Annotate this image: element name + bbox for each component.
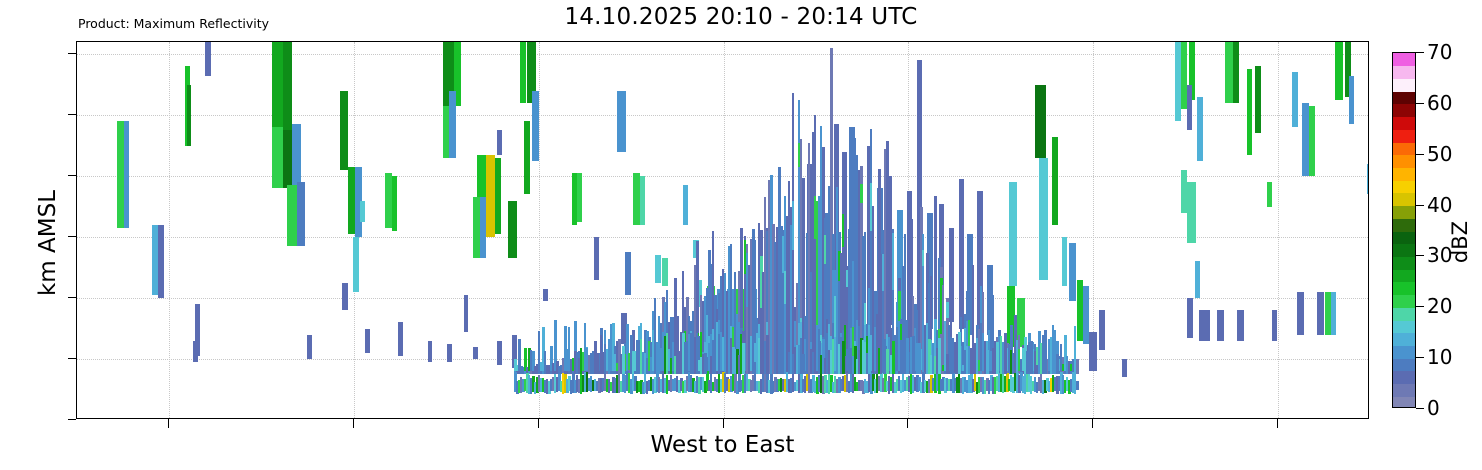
product-label: Product: Maximum Reflectivity — [78, 16, 269, 31]
echo-cell — [976, 338, 978, 374]
echo-cell — [524, 121, 530, 194]
echo-cell — [918, 343, 921, 375]
colorbar-band — [1393, 244, 1415, 257]
echo-cell — [868, 347, 871, 374]
echo-cell — [617, 91, 626, 152]
y-tick-mark — [68, 419, 76, 420]
reflectivity-echoes — [77, 42, 1368, 418]
echo-cell — [788, 352, 790, 374]
echo-cell — [348, 167, 355, 234]
echo-cell — [802, 354, 805, 374]
colorbar-band — [1393, 384, 1415, 397]
echo-cell — [124, 121, 129, 228]
x-tick-mark — [353, 419, 354, 428]
echo-cell — [1052, 137, 1058, 225]
echo-cell — [520, 42, 526, 103]
echo-cell — [860, 184, 863, 203]
colorbar-tick-label: 10 — [1427, 345, 1452, 369]
echo-cell — [543, 289, 548, 301]
colorbar-tick-label: 30 — [1427, 243, 1452, 267]
echo-cell — [650, 357, 652, 374]
echo-cell — [718, 334, 720, 375]
echo-cell — [906, 338, 909, 374]
echo-cell — [1076, 381, 1079, 390]
echo-cell — [676, 339, 678, 374]
echo-cell — [986, 350, 989, 374]
echo-cell — [1297, 292, 1304, 335]
echo-cell — [766, 335, 769, 374]
echo-cell — [1009, 182, 1017, 286]
colorbar-band — [1393, 320, 1415, 333]
echo-cell — [946, 302, 949, 318]
echo-cell — [886, 349, 889, 374]
colorbar-tick-mark — [1416, 255, 1424, 256]
echo-cell — [1016, 340, 1018, 375]
echo-cell — [1335, 42, 1343, 100]
colorbar-band — [1393, 231, 1415, 244]
echo-cell — [922, 250, 924, 266]
echo-cell — [1039, 158, 1048, 280]
colorbar-tick-label: 20 — [1427, 294, 1452, 318]
colorbar-band — [1393, 307, 1415, 320]
echo-cell — [704, 353, 707, 374]
echo-cell — [596, 353, 599, 374]
echo-cell — [968, 356, 970, 375]
echo-cell — [297, 182, 305, 246]
colorbar-tick-mark — [1416, 205, 1424, 206]
echo-cell — [996, 342, 999, 374]
echo-cell — [508, 201, 517, 259]
echo-cell — [307, 335, 312, 359]
x-tick-mark — [723, 419, 724, 428]
echo-cell — [117, 179, 124, 228]
colorbar-tick-label: 60 — [1427, 91, 1452, 115]
colorbar-tick-mark — [1416, 52, 1424, 53]
colorbar-band — [1393, 66, 1415, 79]
echo-cell — [287, 185, 297, 246]
echo-cell — [1187, 182, 1196, 243]
echo-cell — [686, 341, 688, 375]
echo-cell — [205, 42, 211, 76]
echo-cell — [392, 176, 397, 231]
colorbar-band — [1393, 193, 1415, 206]
echo-cell — [428, 341, 432, 362]
colorbar-band — [1393, 78, 1415, 91]
y-tick-mark — [68, 114, 76, 115]
colorbar-band — [1393, 282, 1415, 295]
echo-cell — [283, 42, 292, 130]
colorbar-band — [1393, 396, 1415, 408]
colorbar-band — [1393, 206, 1415, 219]
echo-cell — [283, 130, 292, 188]
echo-cell — [1317, 292, 1324, 335]
echo-cell — [832, 339, 834, 375]
echo-cell — [447, 344, 452, 362]
echo-cell — [946, 354, 949, 375]
echo-cell — [1349, 76, 1354, 125]
echo-cell — [625, 252, 631, 295]
echo-cell — [670, 358, 672, 374]
echo-cell — [1004, 333, 1007, 374]
echo-cell — [1302, 103, 1309, 176]
y-tick-mark — [68, 358, 76, 359]
echo-cell — [696, 333, 698, 375]
colorbar-band — [1393, 345, 1415, 358]
colorbar-band — [1393, 53, 1415, 66]
echo-cell — [1062, 237, 1067, 286]
echo-cell — [1292, 72, 1298, 127]
echo-cell — [117, 121, 124, 179]
echo-cell — [365, 329, 370, 353]
echo-cell — [158, 225, 164, 298]
colorbar-band — [1393, 269, 1415, 282]
echo-cell — [622, 346, 625, 375]
x-axis-label: West to East — [76, 432, 1369, 458]
echo-cell — [742, 343, 745, 374]
colorbar-tick-label: 40 — [1427, 193, 1452, 217]
echo-cell — [892, 233, 894, 289]
colorbar-band — [1393, 91, 1415, 104]
y-tick-mark — [68, 53, 76, 54]
colorbar-tick-mark — [1416, 306, 1424, 307]
echo-cell — [497, 130, 502, 154]
colorbar-tick-mark — [1416, 357, 1424, 358]
x-tick-mark — [1092, 419, 1093, 428]
echo-cell — [1217, 310, 1224, 340]
echo-cell — [342, 283, 348, 310]
echo-cell — [1044, 349, 1047, 374]
echo-cell — [1035, 85, 1046, 158]
echo-cell — [880, 348, 882, 374]
echo-cell — [1195, 261, 1200, 298]
colorbar-band — [1393, 371, 1415, 384]
echo-cell — [1272, 310, 1277, 340]
colorbar-tick-label: 50 — [1427, 142, 1452, 166]
echo-cell — [1199, 310, 1210, 340]
x-tick-mark — [1277, 419, 1278, 428]
echo-cell — [1122, 359, 1127, 377]
colorbar-band — [1393, 295, 1415, 308]
echo-cell — [812, 352, 814, 375]
echo-cell — [959, 179, 964, 328]
echo-cell — [398, 322, 403, 356]
echo-cell — [1187, 85, 1192, 131]
echo-cell — [655, 255, 661, 282]
echo-cell — [1012, 353, 1014, 374]
echo-cell — [1225, 42, 1233, 103]
echo-cell — [1034, 351, 1036, 375]
colorbar-tick-mark — [1416, 408, 1424, 409]
echo-cell — [272, 127, 283, 188]
echo-cell — [683, 185, 688, 225]
colorbar-band — [1393, 358, 1415, 371]
echo-cell — [1331, 292, 1336, 335]
echo-cell — [892, 341, 895, 374]
echo-cell — [594, 237, 599, 280]
echo-cell — [1367, 164, 1369, 194]
echo-cell — [1030, 341, 1033, 374]
echo-cell — [1255, 66, 1261, 133]
echo-cell — [666, 333, 668, 375]
echo-cell — [633, 173, 640, 225]
colorbar-band — [1393, 129, 1415, 142]
echo-cell — [577, 173, 582, 222]
echo-cell — [864, 342, 866, 374]
echo-cell — [353, 237, 359, 292]
colorbar-band — [1393, 256, 1415, 269]
echo-cell — [1197, 97, 1203, 161]
y-tick-mark — [68, 297, 76, 298]
echo-cell — [958, 332, 961, 374]
colorbar-band — [1393, 117, 1415, 130]
y-tick-mark — [68, 236, 76, 237]
echo-cell — [497, 341, 502, 365]
echo-cell — [1076, 359, 1079, 374]
echo-cell — [1187, 298, 1193, 338]
colorbar — [1392, 52, 1416, 408]
x-tick-mark — [168, 419, 169, 428]
echo-cell — [782, 345, 784, 374]
echo-cell — [464, 295, 468, 332]
echo-cell — [604, 344, 606, 374]
echo-cell — [272, 42, 283, 127]
colorbar-band — [1393, 155, 1415, 168]
echo-cell — [385, 173, 392, 228]
echo-cell — [1069, 243, 1076, 301]
echo-cell — [600, 335, 602, 374]
echo-cell — [824, 235, 826, 264]
echo-cell — [992, 348, 994, 375]
echo-cell — [842, 341, 845, 374]
echo-cell — [292, 124, 301, 188]
echo-cell — [1089, 332, 1097, 372]
echo-cell — [608, 339, 610, 374]
y-tick-mark — [68, 175, 76, 176]
echo-cell — [187, 85, 191, 146]
echo-cell — [952, 338, 954, 374]
colorbar-tick-mark — [1416, 154, 1424, 155]
echo-cell — [792, 201, 794, 250]
echo-cell — [1056, 354, 1059, 375]
echo-cell — [473, 197, 480, 258]
echo-cell — [752, 341, 754, 374]
echo-cell — [912, 336, 915, 374]
echo-cell — [842, 214, 844, 247]
echo-cell — [480, 197, 486, 258]
echo-cell — [580, 348, 582, 375]
echo-cell — [1237, 310, 1244, 340]
echo-cell — [814, 196, 816, 239]
x-tick-mark — [538, 419, 539, 428]
colorbar-band — [1393, 333, 1415, 346]
echo-cell — [1309, 106, 1315, 176]
echo-cell — [486, 155, 495, 237]
echo-cell — [532, 91, 539, 161]
echo-cell — [1267, 182, 1272, 206]
echo-cell — [340, 91, 348, 170]
colorbar-band — [1393, 142, 1415, 155]
colorbar-tick-mark — [1416, 103, 1424, 104]
plot-area — [76, 41, 1369, 419]
x-tick-mark — [907, 419, 908, 428]
colorbar-band — [1393, 180, 1415, 193]
echo-cell — [662, 258, 668, 285]
echo-cell — [360, 201, 365, 222]
echo-cell — [656, 342, 658, 375]
echo-cell — [1233, 42, 1239, 103]
colorbar-tick-label: 0 — [1427, 396, 1440, 420]
echo-cell — [632, 351, 634, 375]
echo-cell — [193, 341, 198, 362]
colorbar-band — [1393, 218, 1415, 231]
echo-cell — [640, 176, 645, 225]
radar-cross-section-figure: 14.10.2025 20:10 - 20:14 UTC Product: Ma… — [0, 0, 1482, 470]
colorbar-band — [1393, 167, 1415, 180]
echo-cell — [938, 338, 941, 375]
echo-cell — [495, 158, 501, 234]
echo-cell — [449, 91, 456, 158]
echo-cell — [712, 340, 715, 374]
colorbar-gradient — [1392, 52, 1416, 408]
y-axis-label: km AMSL — [35, 143, 61, 343]
colorbar-tick-label: 70 — [1427, 40, 1452, 64]
colorbar-band — [1393, 104, 1415, 117]
echo-cell — [1099, 310, 1105, 350]
echo-cell — [1247, 69, 1252, 154]
echo-cell — [473, 347, 478, 359]
echo-cell — [646, 358, 648, 374]
